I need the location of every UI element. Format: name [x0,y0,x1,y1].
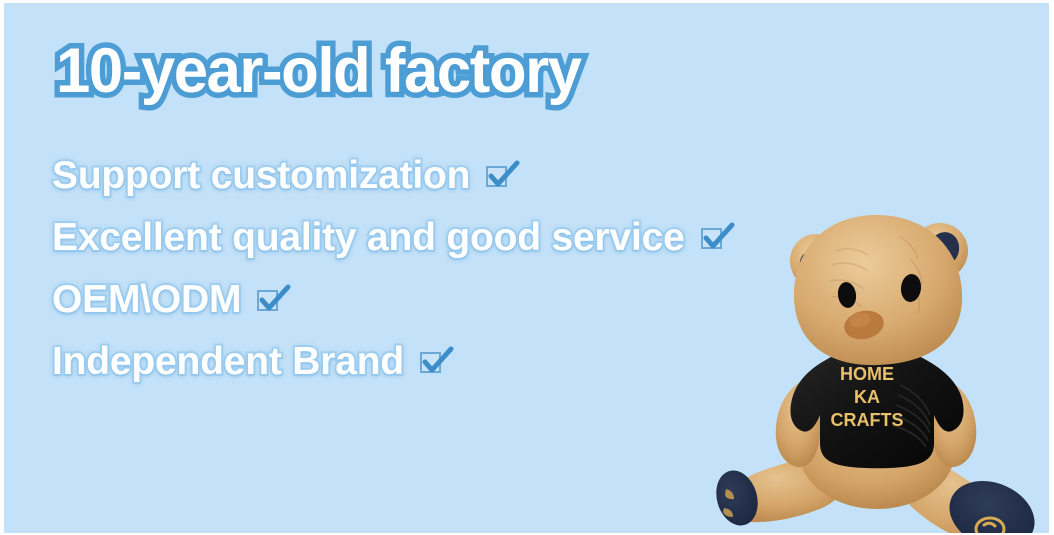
feature-label-oem-odm: OEM\ODM [52,278,241,322]
banner-canvas: 10-year-old factory Support customizatio… [4,3,1049,533]
feature-label-support-customization: Support customization [52,154,470,198]
feature-label-excellent-quality: Excellent quality and good service [52,216,685,260]
page-title: 10-year-old factory [56,40,581,103]
product-image-teddy-bear: HOME KA CRAFTS [704,203,1049,533]
shirt-text-line-1: HOME [840,364,894,384]
bear-head [794,215,962,365]
list-item: Support customization [52,145,952,207]
feature-label-independent-brand: Independent Brand [52,340,404,384]
shirt-text-line-3: CRAFTS [831,410,904,430]
checkbox-checked-icon [486,161,520,191]
checkbox-checked-icon [257,285,291,315]
shirt-text-line-2: KA [854,387,880,407]
promo-banner: 10-year-old factory Support customizatio… [0,0,1054,535]
checkbox-checked-icon [420,347,454,377]
